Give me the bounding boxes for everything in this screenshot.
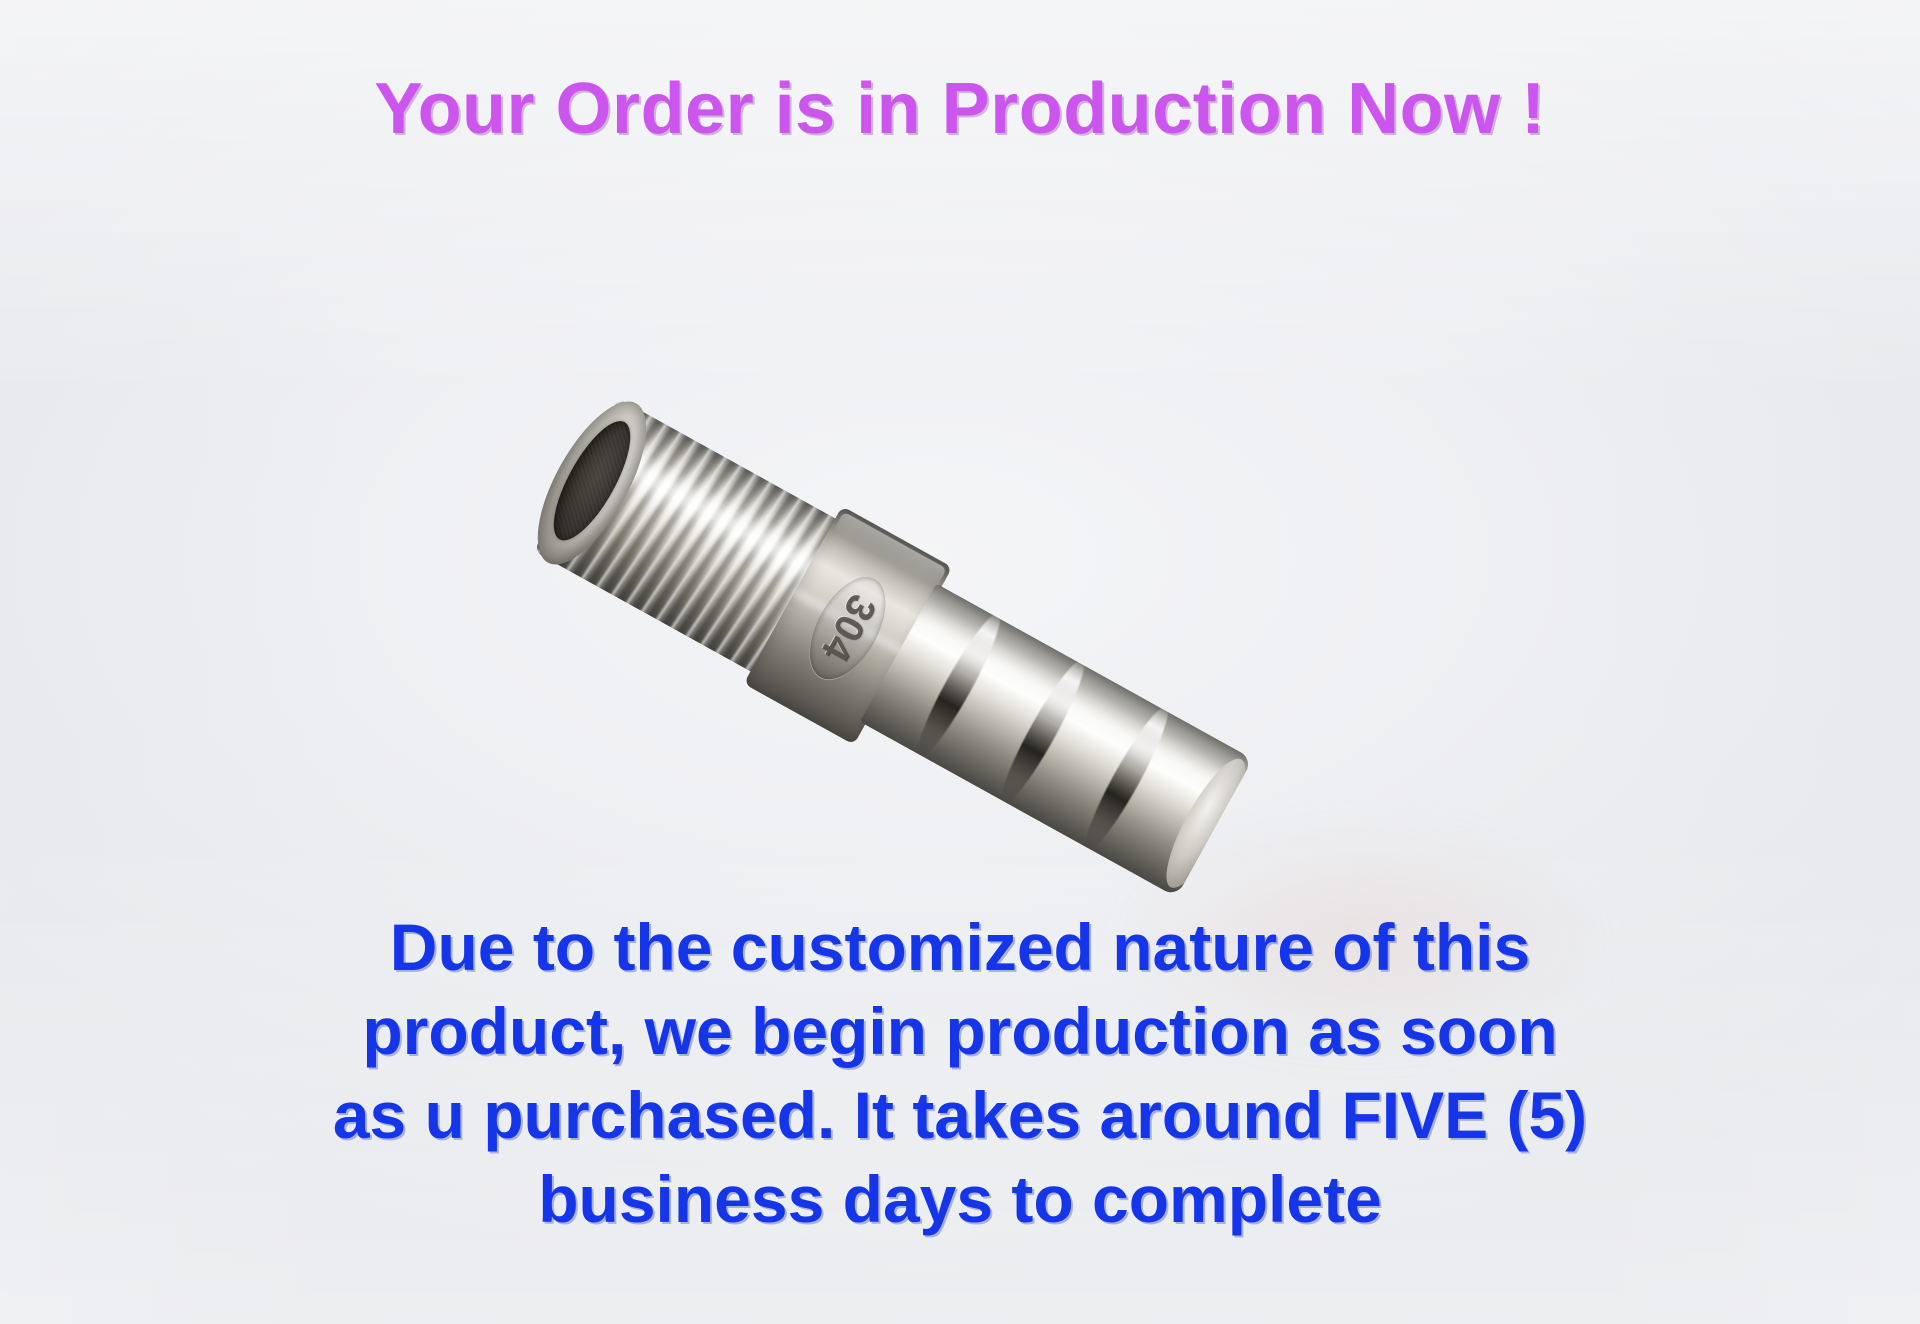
grade-stamp-boss: 304	[794, 565, 901, 692]
notice-line-2: product, we begin production as soon	[110, 989, 1810, 1073]
page-title: Your Order is in Production Now !	[0, 68, 1920, 150]
notice-line-4: business days to complete	[110, 1157, 1810, 1241]
grade-stamp-text: 304	[811, 587, 884, 670]
notice-line-1: Due to the customized nature of this	[110, 905, 1810, 989]
product-image: 304	[560, 300, 1300, 780]
production-notice: Due to the customized nature of this pro…	[110, 905, 1810, 1241]
notice-line-3: as u purchased. It takes around FIVE (5)	[110, 1073, 1810, 1157]
promo-banner: Your Order is in Production Now ! 304	[0, 0, 1920, 1324]
hex-top-edge	[833, 512, 947, 588]
